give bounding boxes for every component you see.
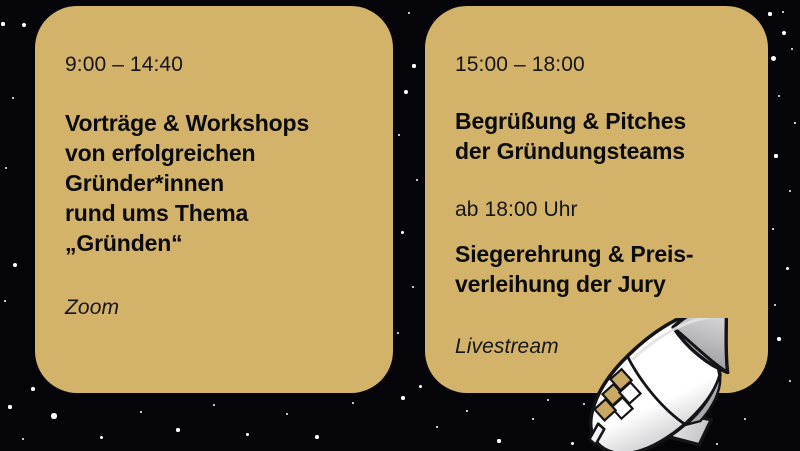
star-dot [100, 436, 103, 439]
star-dot [4, 300, 6, 302]
star-dot [436, 426, 439, 429]
star-dot [774, 304, 777, 307]
star-dot [532, 418, 535, 421]
schedule-card-afternoon: 15:00 – 18:00 Begrüßung & Pitches der Gr… [425, 6, 768, 393]
star-dot [771, 56, 776, 61]
star-dot [412, 64, 415, 67]
star-dot [597, 424, 599, 426]
star-dot [419, 385, 422, 388]
star-dot [416, 179, 418, 181]
star-dot [398, 134, 401, 137]
card-platform-label: Livestream [455, 334, 742, 359]
star-dot [744, 418, 746, 420]
star-dot [716, 443, 719, 446]
slide-canvas: 9:00 – 14:40 Vorträge & Workshops von er… [0, 0, 800, 451]
star-dot [794, 122, 796, 124]
star-dot [352, 402, 355, 405]
star-dot [22, 438, 25, 441]
star-dot [683, 423, 685, 425]
star-dot [583, 403, 585, 405]
star-dot [768, 12, 771, 15]
star-dot [466, 410, 468, 412]
star-dot [176, 428, 179, 431]
star-dot [782, 11, 784, 13]
schedule-card-morning: 9:00 – 14:40 Vorträge & Workshops von er… [35, 6, 393, 393]
card-headline: Vorträge & Workshops von erfolgreichen G… [65, 109, 359, 258]
star-dot [13, 263, 17, 267]
star-dot [786, 267, 789, 270]
star-dot [412, 286, 414, 288]
star-dot [777, 337, 780, 340]
star-dot [625, 436, 628, 439]
star-dot [12, 97, 15, 100]
star-dot [404, 90, 408, 94]
star-dot [5, 167, 7, 169]
star-dot [772, 228, 774, 230]
star-dot [286, 413, 288, 415]
star-dot [31, 387, 35, 391]
star-dot [8, 405, 11, 408]
card-time-range: 9:00 – 14:40 [65, 52, 359, 77]
star-dot [774, 154, 777, 157]
star-dot [213, 404, 216, 407]
star-dot [547, 399, 550, 402]
star-dot [408, 12, 410, 14]
star-dot [140, 411, 142, 413]
star-dot [778, 95, 781, 98]
card-time-range: 15:00 – 18:00 [455, 52, 742, 77]
card-headline-primary: Begrüßung & Pitches der Gründungsteams [455, 107, 742, 167]
card-time-secondary: ab 18:00 Uhr [455, 197, 742, 222]
star-dot [315, 435, 319, 439]
star-dot [497, 439, 500, 442]
star-dot [789, 380, 792, 383]
star-dot [401, 231, 404, 234]
star-dot [782, 31, 787, 36]
card-platform-label: Zoom [65, 295, 359, 320]
star-dot [51, 413, 56, 418]
star-dot [571, 442, 574, 445]
star-dot [789, 190, 792, 193]
card-headline-secondary: Siegerehrung & Preis- verleihung der Jur… [455, 240, 742, 300]
star-dot [246, 433, 249, 436]
star-dot [791, 48, 794, 51]
star-dot [22, 23, 26, 27]
star-dot [401, 396, 405, 400]
star-dot [1, 22, 4, 25]
star-dot [397, 332, 400, 335]
